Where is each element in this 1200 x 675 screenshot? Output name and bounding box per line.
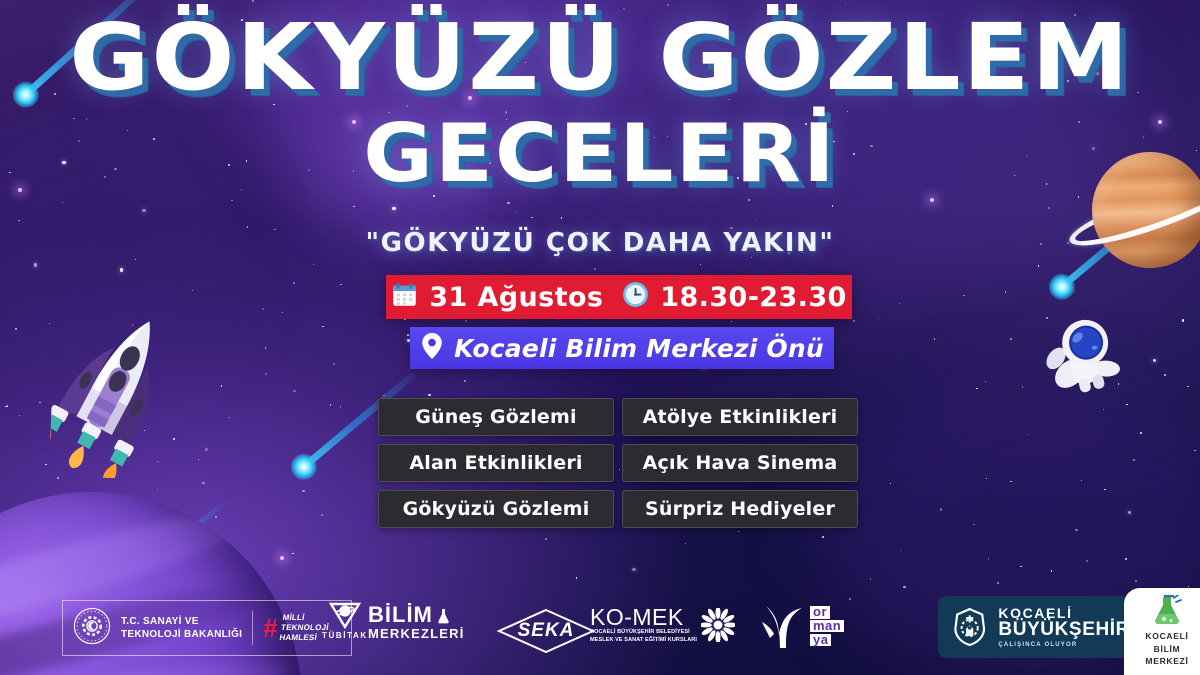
komek-logo: KO-MEK KOCAELİ BÜYÜKŞEHİR BELEDİYESİ MES… [590, 606, 735, 645]
science-flask-icon [1152, 595, 1182, 627]
star-dot [632, 568, 635, 571]
star-dot [1062, 294, 1063, 295]
star-dot [333, 363, 334, 364]
star-dot [173, 438, 174, 439]
star-dot [1188, 586, 1189, 587]
kbm-l2: BİLİM [1145, 643, 1188, 656]
star-dot [18, 220, 19, 221]
star-dot [383, 395, 384, 396]
star-dot [531, 217, 532, 218]
star-dot [293, 390, 295, 392]
star-dot [340, 406, 341, 407]
star-dot [1010, 481, 1011, 482]
hashtag-icon: # [263, 615, 277, 641]
star-dot [1182, 319, 1184, 321]
star-dot [15, 328, 16, 329]
ormanya-l3: ya [810, 634, 831, 646]
tubitak-logo: TÜBİTAK [322, 600, 368, 640]
rocket-graphic [49, 304, 175, 480]
star-dot [986, 478, 987, 479]
star-dot [899, 303, 900, 304]
star-dot [1081, 480, 1082, 481]
star-dot [45, 464, 46, 465]
kocaeli-bilim-merkezi-logo: KOCAELİ BİLİM MERKEZİ [1124, 588, 1200, 675]
divider [252, 611, 253, 645]
star-dot [265, 373, 267, 375]
star-dot [1005, 291, 1006, 292]
star-dot [731, 321, 732, 322]
page-title-line-1: GÖKYÜZÜ GÖZLEM [0, 14, 1200, 102]
star-dot [34, 263, 37, 266]
star-dot [755, 220, 756, 221]
tubitak-label: TÜBİTAK [322, 631, 368, 640]
star-dot [576, 577, 577, 578]
star-dot [1104, 489, 1105, 490]
event-location: Kocaeli Bilim Merkezi Önü [454, 334, 824, 363]
star-dot [428, 394, 430, 396]
star-dot [507, 202, 509, 204]
kbm-l1: KOCAELİ [1145, 630, 1188, 643]
star-dot [685, 543, 686, 544]
star-dot [202, 482, 204, 484]
star-dot [832, 205, 833, 206]
ministry-logo: T.C. SANAYİ VE TEKNOLOJİ BAKANLIĞI # MİL… [62, 600, 352, 656]
star-dot [5, 406, 6, 407]
event-date: 31 Ağustos [429, 282, 603, 313]
tubitak-emblem-icon [328, 600, 362, 630]
komek-label: KO-MEK [590, 606, 697, 629]
tagline: "GÖKYÜZÜ ÇOK DAHA YAKIN" [0, 228, 1200, 258]
star-dot [120, 268, 123, 271]
star-dot [1128, 511, 1131, 514]
star-dot [7, 405, 8, 406]
star-dot [545, 538, 546, 539]
star-dot [142, 209, 145, 212]
star-dot [340, 284, 341, 285]
star-dot [1140, 432, 1142, 434]
daisy-icon [701, 608, 735, 642]
star-dot [293, 282, 295, 284]
star-dot [1074, 291, 1075, 292]
star-dot [1048, 207, 1050, 209]
buyuksehir-emblem-icon [950, 606, 989, 648]
star-dot [1103, 409, 1104, 410]
star-dot [353, 206, 354, 207]
star-dot [57, 477, 59, 479]
ormanya-tree-icon [760, 602, 806, 652]
star-dot [1164, 374, 1166, 376]
star-dot [1133, 459, 1134, 460]
title-block: GÖKYÜZÜ GÖZLEM GECELERİ [0, 14, 1200, 193]
star-dot [700, 264, 701, 265]
star-dot [135, 259, 136, 260]
bilim-merkezleri-logo: BİLİM MERKEZLERİ [368, 604, 465, 642]
star-dot [1086, 560, 1087, 561]
star-dot [1027, 434, 1028, 435]
ormanya-l1: or [810, 606, 830, 618]
star-dot [988, 558, 989, 559]
activity-chip[interactable]: Açık Hava Sinema [622, 444, 858, 482]
star-dot [903, 586, 905, 588]
activity-chip[interactable]: Sürpriz Hediyeler [622, 490, 858, 528]
star-dot [1051, 570, 1052, 571]
star-dot [963, 295, 964, 296]
seka-logo: SEKA [496, 608, 596, 654]
calendar-icon [391, 281, 418, 313]
event-time: 18.30-23.30 [660, 282, 846, 313]
star-dot [292, 463, 293, 464]
star-dot [157, 489, 158, 490]
bilim-label: BİLİM [368, 604, 433, 626]
seka-label: SEKA [496, 620, 596, 642]
star-dot [1020, 566, 1021, 567]
star-dot [265, 347, 266, 348]
star-dot [192, 290, 193, 291]
kocaeli-buyuksehir-logo: KOCAELİ BÜYÜKŞEHİR ÇALIŞINCA OLUYOR [938, 596, 1130, 658]
star-dot [878, 318, 879, 319]
activity-chip[interactable]: Atölye Etkinlikleri [622, 398, 858, 436]
star-dot [252, 0, 254, 2]
activity-chip[interactable]: Alan Etkinlikleri [378, 444, 614, 482]
star-dot [973, 524, 974, 525]
star-dot [849, 598, 851, 600]
star-dot [1135, 580, 1137, 582]
star-dot [1153, 359, 1156, 362]
star-dot [198, 459, 199, 460]
star-dot [302, 490, 304, 492]
star-dot [822, 536, 823, 537]
star-dot [870, 578, 871, 579]
ministry-emblem-icon [73, 607, 111, 650]
star-dot [330, 404, 331, 405]
star-dot [464, 380, 466, 382]
star-dot [1075, 529, 1077, 531]
star-dot [1038, 265, 1039, 266]
clock-icon [622, 281, 649, 313]
star-dot [1010, 338, 1011, 339]
activity-chip[interactable]: Gökyüzü Gözlemi [378, 490, 614, 528]
komek-sub-1: KOCAELİ BÜYÜKŞEHİR BELEDİYESİ [590, 629, 697, 637]
star-dot [853, 320, 855, 322]
star-dot [322, 326, 323, 327]
star-dot [49, 323, 50, 324]
star-dot [231, 200, 232, 201]
star-dot [1126, 404, 1127, 405]
star-dot [262, 308, 264, 310]
star-dot [516, 212, 517, 213]
star-dot [976, 388, 977, 389]
poster-canvas: GÖKYÜZÜ GÖZLEM GECELERİ "GÖKYÜZÜ ÇOK DAH… [0, 0, 1200, 675]
astronaut-graphic [1034, 300, 1128, 394]
star-dot [940, 508, 942, 510]
star-dot [62, 202, 63, 203]
star-dot [465, 320, 467, 322]
star-dot [1194, 450, 1195, 451]
star-dot [1187, 386, 1188, 387]
star-dot [221, 385, 222, 386]
flask-icon [436, 608, 451, 624]
star-dot [1078, 196, 1079, 197]
ormanya-logo: or man ya [760, 602, 844, 652]
milli-teknoloji-hamlesi-logo: # MİLLİ TEKNOLOJİ HAMLESİ [263, 613, 328, 643]
star-dot [1022, 386, 1023, 387]
page-title-line-2: GECELERİ [0, 116, 1200, 193]
buyuksehir-slogan: ÇALIŞINCA OLUYOR [998, 642, 1130, 648]
star-dot [321, 514, 322, 515]
date-time-bar: 31 Ağustos 18.30-23.30 [386, 275, 852, 319]
star-dot [313, 264, 314, 265]
star-dot [205, 448, 208, 451]
star-dot [1125, 558, 1127, 560]
activity-list: Güneş Gözlemi Atölye Etkinlikleri Alan E… [378, 398, 858, 528]
star-dot [934, 338, 935, 339]
location-bar: Kocaeli Bilim Merkezi Önü [410, 327, 834, 369]
kbm-l3: MERKEZİ [1145, 655, 1188, 668]
star-dot [985, 381, 986, 382]
sparkle-star [930, 198, 934, 202]
komek-sub-2: MESLEK VE SANAT EĞİTİMİ KURSLARI [590, 637, 697, 645]
sparkle-star [280, 556, 284, 560]
star-dot [282, 312, 283, 313]
buyuksehir-l2: BÜYÜKŞEHİR [998, 620, 1130, 640]
star-dot [39, 402, 40, 403]
star-dot [997, 582, 998, 583]
buyuksehir-l1: KOCAELİ [998, 606, 1130, 621]
star-dot [900, 550, 901, 551]
star-dot [228, 417, 229, 418]
ormanya-l2: man [810, 620, 844, 632]
ministry-name: T.C. SANAYİ VE TEKNOLOJİ BAKANLIĞI [121, 615, 242, 642]
star-dot [594, 268, 596, 270]
star-dot [407, 334, 408, 335]
merkezleri-label: MERKEZLERİ [368, 626, 465, 642]
star-dot [738, 531, 739, 532]
star-dot [561, 217, 562, 218]
activity-chip[interactable]: Güneş Gözlemi [378, 398, 614, 436]
star-dot [19, 415, 20, 416]
location-pin-icon [420, 332, 444, 365]
star-dot [392, 207, 395, 210]
star-dot [890, 483, 891, 484]
star-dot [292, 553, 293, 554]
